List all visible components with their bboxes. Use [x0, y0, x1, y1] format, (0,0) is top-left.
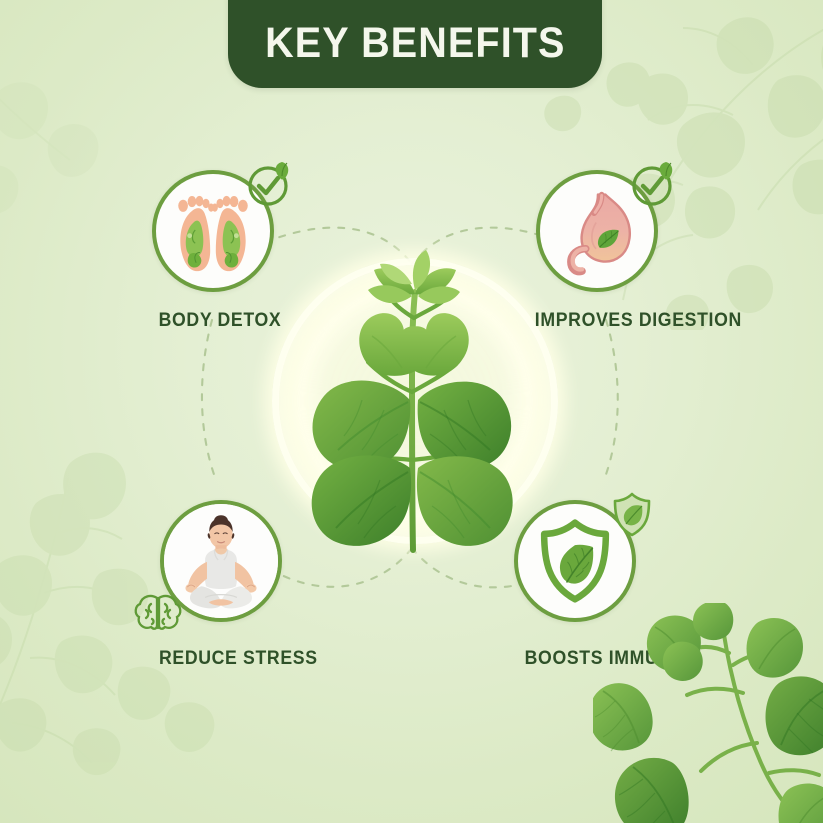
benefit-label-body-detox: BODY DETOX — [159, 310, 282, 332]
connector-right-arc — [604, 320, 618, 480]
benefit-label-boosts-immunity: BOOSTS IMMUNITY — [525, 648, 702, 670]
background-foliage-top-left — [0, 60, 160, 260]
benefit-label-improves-digestion: IMPROVES DIGESTION — [535, 310, 742, 332]
header-banner: KEY BENEFITS — [228, 0, 602, 88]
infographic-canvas: KEY BENEFITS — [0, 0, 823, 823]
benefit-label-reduce-stress: REDUCE STRESS — [159, 648, 318, 670]
connector-left-arc — [202, 320, 216, 480]
brain-icon — [132, 586, 184, 638]
benefit-item-improves-digestion[interactable] — [536, 170, 658, 292]
small-shield-leaf-badge-icon — [606, 488, 658, 540]
check-leaf-badge-icon — [244, 158, 296, 210]
decorative-plant-bottom-right — [593, 603, 823, 823]
page-title: KEY BENEFITS — [265, 19, 565, 68]
benefit-item-body-detox[interactable] — [152, 170, 274, 292]
benefit-item-boosts-immunity[interactable] — [514, 500, 636, 622]
benefit-item-reduce-stress[interactable] — [160, 500, 282, 622]
check-leaf-badge-icon — [628, 158, 680, 210]
